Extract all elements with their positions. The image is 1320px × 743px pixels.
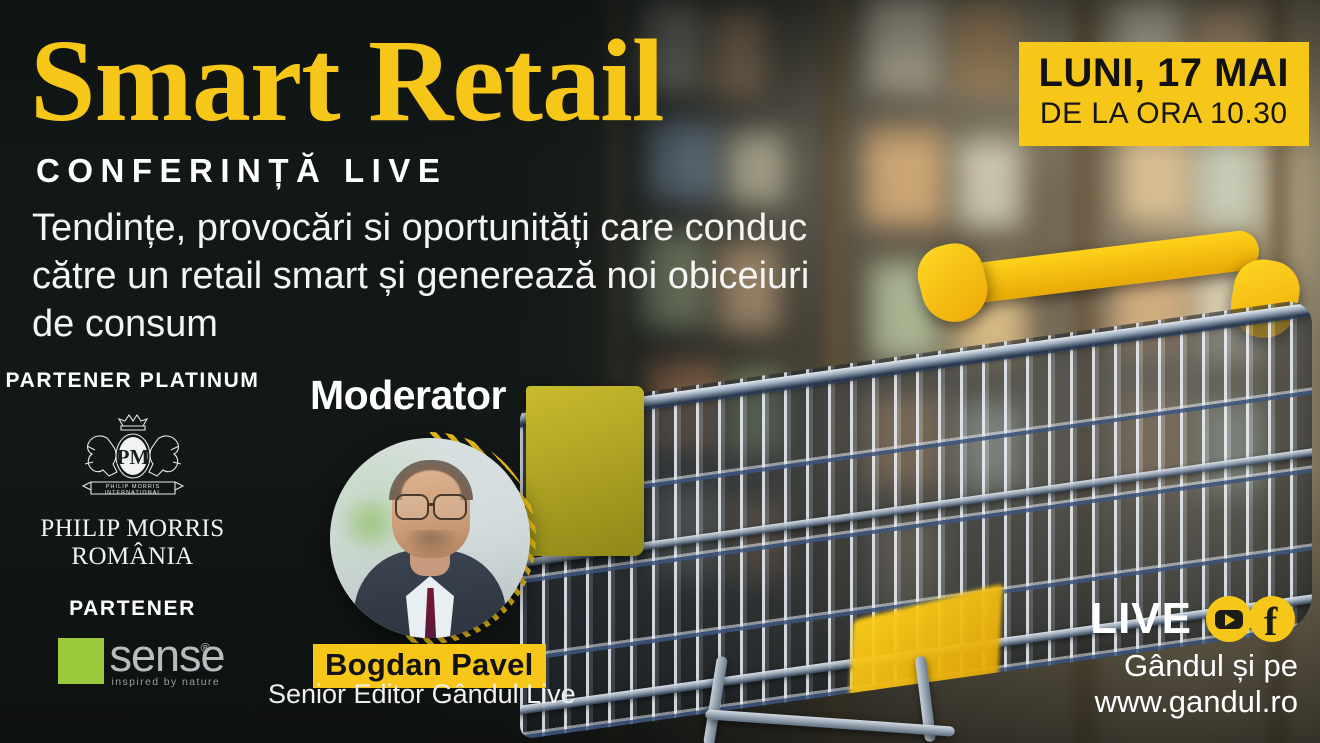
portrait-plant [344,500,396,558]
sense-tagline: inspired by nature [112,676,221,688]
date-badge-time: DE LA ORA 10.30 [1039,96,1289,132]
partner-label: PARTENER [0,596,265,622]
cart-leg [703,656,728,743]
sense-logo: sense ® inspired by nature [38,634,228,692]
philip-morris-crest-icon: PM PHILIP MORRIS INTERNATIONAL [73,410,193,506]
glasses-bridge [427,503,435,506]
conference-promo-poster: Smart Retail CONFERINȚĂ LIVE Tendințe, p… [0,0,1320,743]
cart-grip-left [912,237,995,329]
cart-frame-legs [670,656,1090,743]
event-description: Tendințe, provocări si oportunități care… [32,205,842,349]
live-label: LIVE [1090,594,1192,644]
facebook-glyph: f [1264,602,1277,642]
cart-handle [939,229,1261,308]
date-badge-day: LUNI, 17 MAI [1039,52,1289,94]
sponsors-column: PARTENER PLATINUM PM PHILIP MORRIS INTER… [0,368,265,692]
platinum-partner-name: PHILIP MORRIS ROMÂNIA [0,515,265,573]
website-block: Gândul și pe www.gandul.ro [1095,648,1298,720]
platinum-partner-label: PARTENER PLATINUM [0,368,265,394]
moderator-avatar [330,438,530,638]
moderator-portrait-wrap [330,438,530,638]
sense-wordmark: sense [110,630,225,682]
cart-leg-crossbar [705,709,955,736]
sense-registered-mark: ® [201,640,211,655]
moderator-heading: Moderator [310,372,506,419]
event-kicker: CONFERINȚĂ LIVE [36,152,447,190]
youtube-play-triangle [1225,614,1235,626]
moderator-role: Senior Editor Gândul Live [268,679,576,710]
cart-front-flap [526,386,644,556]
date-badge: LUNI, 17 MAI DE LA ORA 10.30 [1019,42,1309,146]
event-title: Smart Retail [30,22,664,140]
glasses-lens-left [395,494,429,520]
portrait-glasses-icon [394,494,468,516]
website-line-1: Gândul și pe [1095,648,1298,684]
live-row: LIVE f [1090,594,1302,644]
glasses-lens-right [433,494,467,520]
sense-square-icon [58,638,104,684]
social-icons: f [1206,596,1302,642]
crest-banner-line2: INTERNATIONAL [104,490,161,496]
website-line-2[interactable]: www.gandul.ro [1095,684,1298,720]
crest-monogram: PM [116,445,149,469]
